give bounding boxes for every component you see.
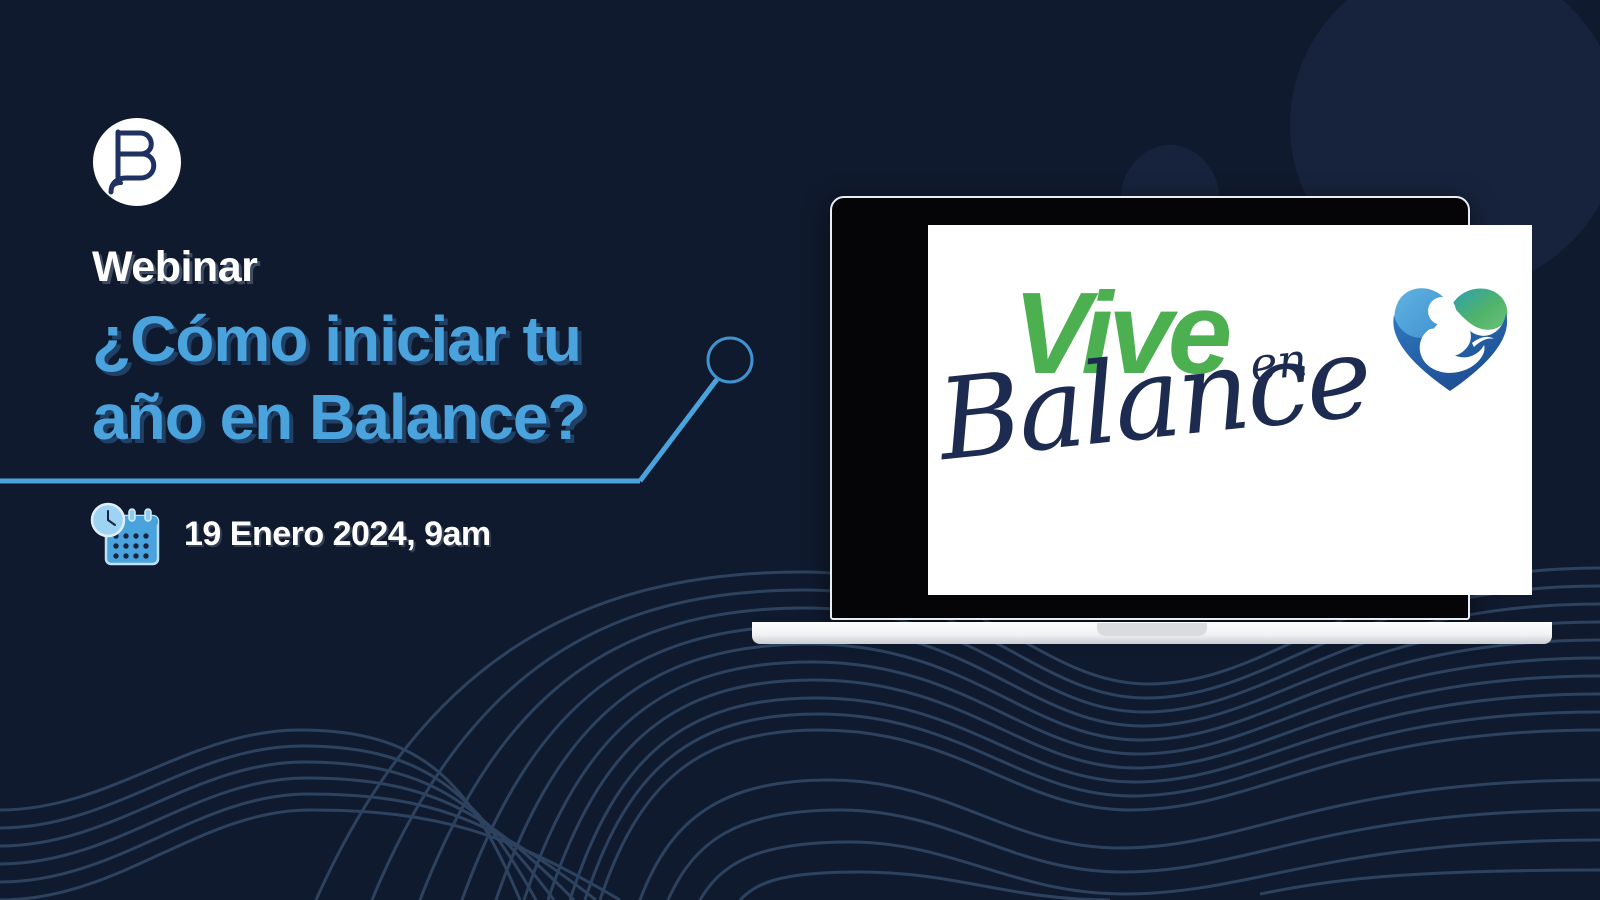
logo-word-balance: Balance: [933, 321, 1374, 478]
laptop-lid: Vive en Balance: [830, 196, 1470, 620]
laptop-mockup: Vive en Balance: [752, 196, 1552, 646]
event-date-text: 19 Enero 2024, 9am: [184, 515, 491, 554]
laptop-notch: [1097, 623, 1207, 636]
decorative-connector: [0, 320, 800, 520]
heart-person-icon: [1386, 273, 1514, 395]
brand-logo: [93, 118, 181, 206]
calendar-clock-icon: [88, 500, 162, 568]
date-row: 19 Enero 2024, 9am: [88, 500, 491, 568]
vive-en-balance-logo: Vive en Balance: [928, 225, 1532, 595]
laptop-screen: Vive en Balance: [928, 225, 1532, 595]
banner-root: Webinar ¿Cómo iniciar tu año en Balance?: [0, 0, 1600, 900]
brand-b-monogram-icon: [106, 126, 168, 198]
left-content-column: Webinar ¿Cómo iniciar tu año en Balance?: [0, 0, 800, 900]
eyebrow-label: Webinar: [92, 243, 257, 292]
